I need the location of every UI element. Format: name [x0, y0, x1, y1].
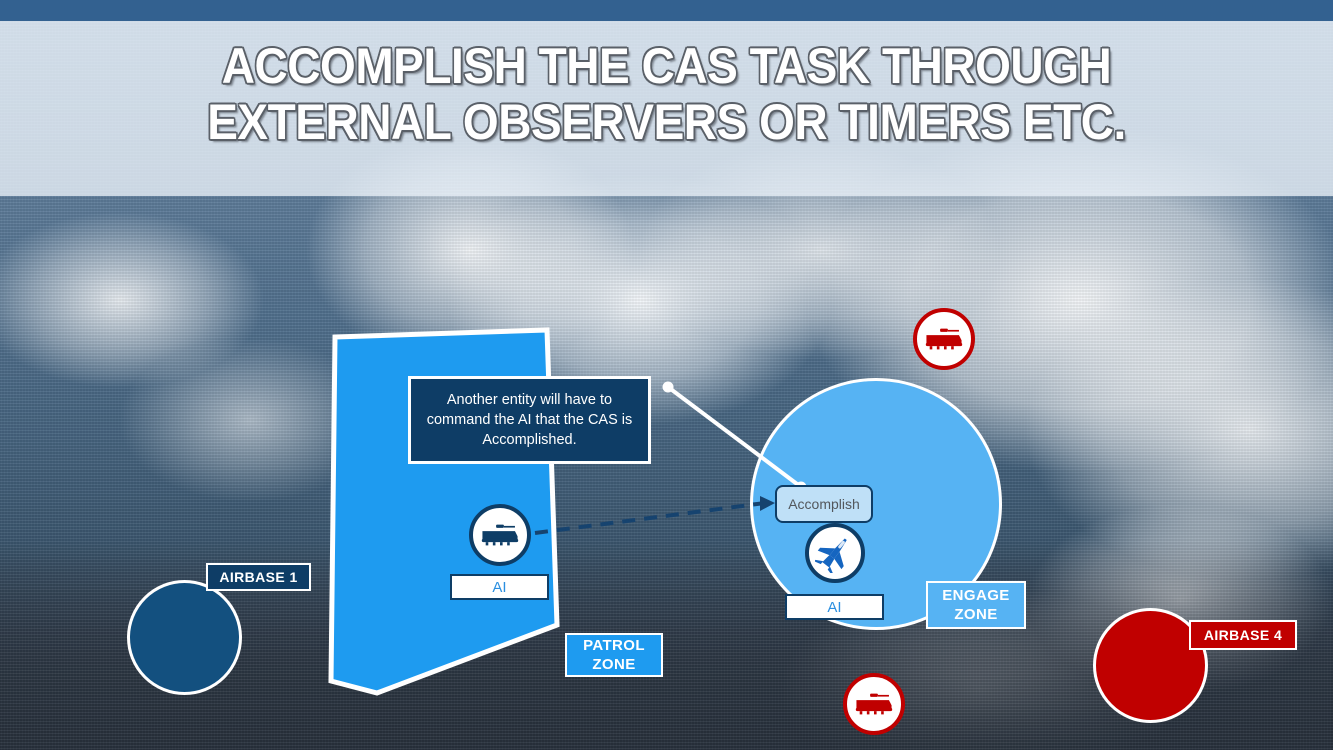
armored-vehicle-icon: [923, 326, 965, 352]
ai-aircraft-unit-label-text: AI: [827, 599, 841, 616]
title-line-1: ACCOMPLISH THE CAS TASK THROUGH: [222, 38, 1112, 94]
engage-zone-label[interactable]: ENGAGE ZONE: [926, 581, 1026, 629]
ai-aircraft-unit-marker[interactable]: [805, 523, 865, 583]
accomplish-node-label: Accomplish: [788, 496, 860, 512]
top-accent-bar: [0, 0, 1333, 21]
airbase-1-label-text: AIRBASE 1: [219, 569, 297, 585]
patrol-zone-label[interactable]: PATROL ZONE: [565, 633, 663, 677]
slide-title: ACCOMPLISH THE CAS TASK THROUGH EXTERNAL…: [53, 38, 1279, 150]
airbase-1-shape[interactable]: [127, 580, 242, 695]
armored-vehicle-icon: [853, 691, 895, 717]
ai-ground-unit-label-text: AI: [492, 579, 506, 596]
accomplish-node[interactable]: Accomplish: [775, 485, 873, 523]
armored-vehicle-icon: [479, 522, 521, 548]
engage-zone-label-line-1: ENGAGE: [942, 586, 1009, 605]
enemy-unit-south-marker[interactable]: [843, 673, 905, 735]
title-line-2: EXTERNAL OBSERVERS OR TIMERS ETC.: [53, 94, 1279, 150]
slide-canvas: ACCOMPLISH THE CAS TASK THROUGH EXTERNAL…: [0, 0, 1333, 750]
ai-ground-unit-label[interactable]: AI: [450, 574, 549, 600]
airbase-4-label-text: AIRBASE 4: [1204, 627, 1282, 643]
patrol-zone-label-line-1: PATROL: [583, 636, 645, 655]
enemy-unit-north-marker[interactable]: [913, 308, 975, 370]
ai-ground-unit-marker[interactable]: [469, 504, 531, 566]
airbase-4-label[interactable]: AIRBASE 4: [1189, 620, 1297, 650]
fighter-jet-icon: [815, 533, 855, 573]
callout-box[interactable]: Another entity will have to command the …: [408, 376, 651, 464]
ai-aircraft-unit-label[interactable]: AI: [785, 594, 884, 620]
airbase-1-label[interactable]: AIRBASE 1: [206, 563, 311, 591]
engage-zone-label-line-2: ZONE: [954, 605, 997, 624]
callout-text: Another entity will have to command the …: [419, 390, 640, 450]
patrol-zone-label-line-2: ZONE: [592, 655, 635, 674]
